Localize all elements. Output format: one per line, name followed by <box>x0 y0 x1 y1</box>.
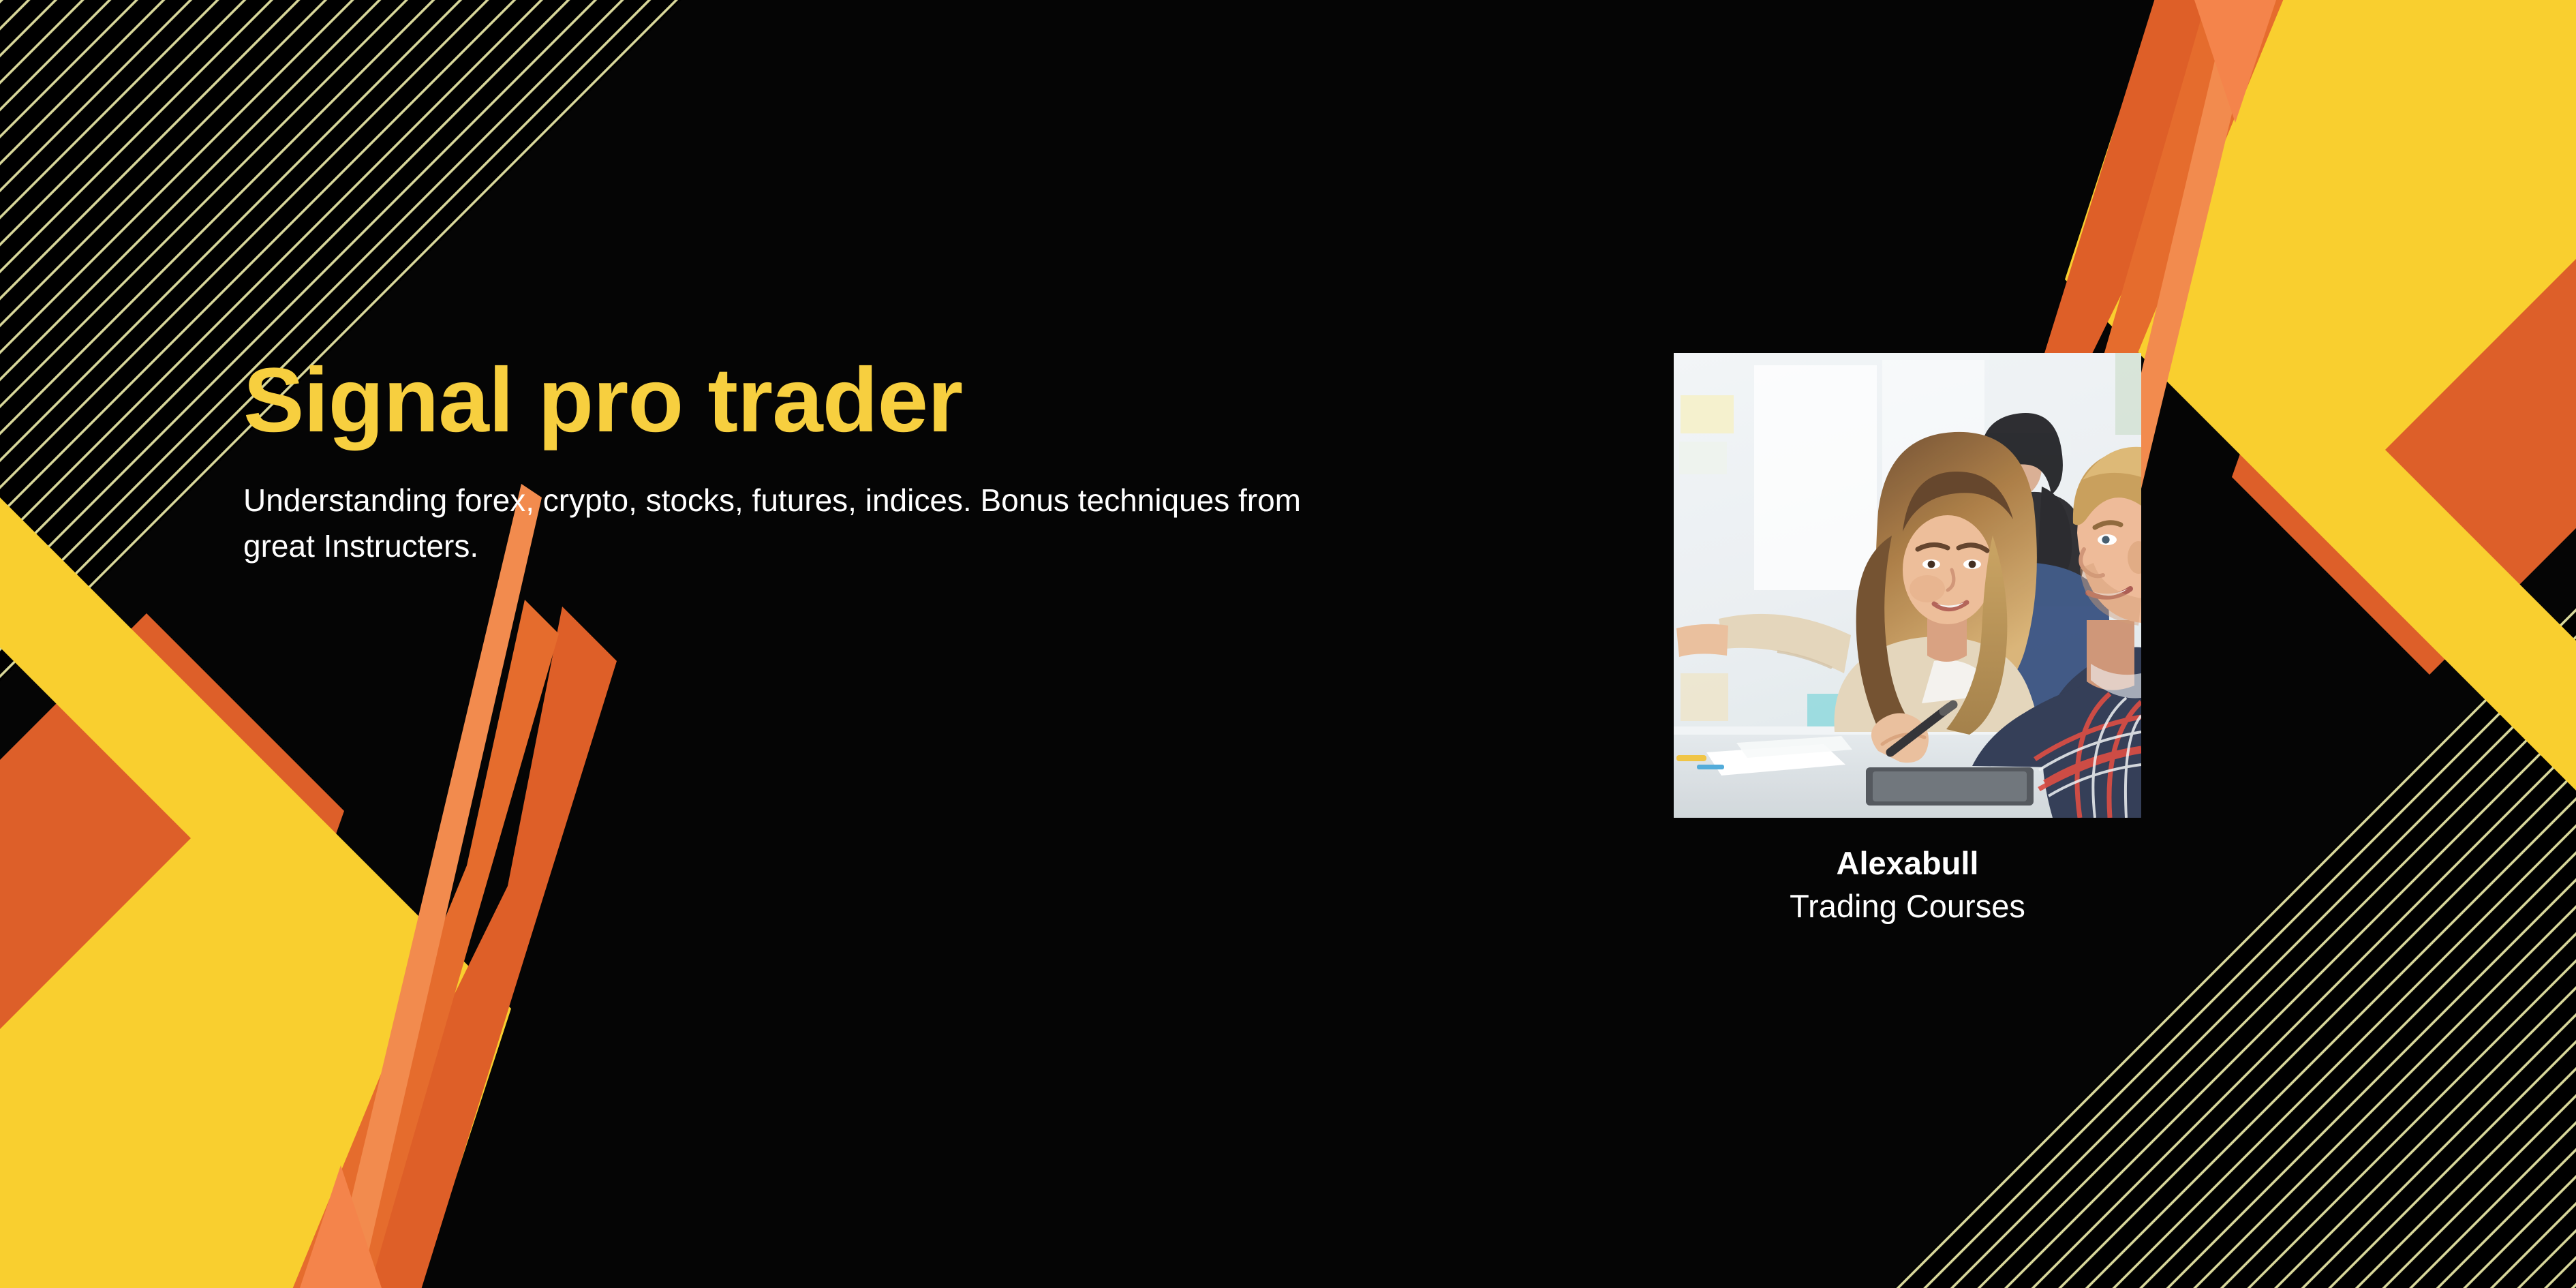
page-title: Signal pro trader <box>243 354 1402 448</box>
instructor-card: Alexabull Trading Courses <box>1674 353 2141 923</box>
slide-content: Signal pro trader Understanding forex, c… <box>0 0 2576 1288</box>
presentation-slide: Signal pro trader Understanding forex, c… <box>0 0 2576 1288</box>
hero-subtitle: Understanding forex, crypto, stocks, fut… <box>243 478 1361 570</box>
instructor-role: Trading Courses <box>1674 889 2141 924</box>
hero-text-block: Signal pro trader Understanding forex, c… <box>243 354 1402 570</box>
instructor-photo <box>1674 353 2141 818</box>
instructor-name: Alexabull <box>1674 846 2141 881</box>
instructor-photo-illustration <box>1674 353 2141 818</box>
